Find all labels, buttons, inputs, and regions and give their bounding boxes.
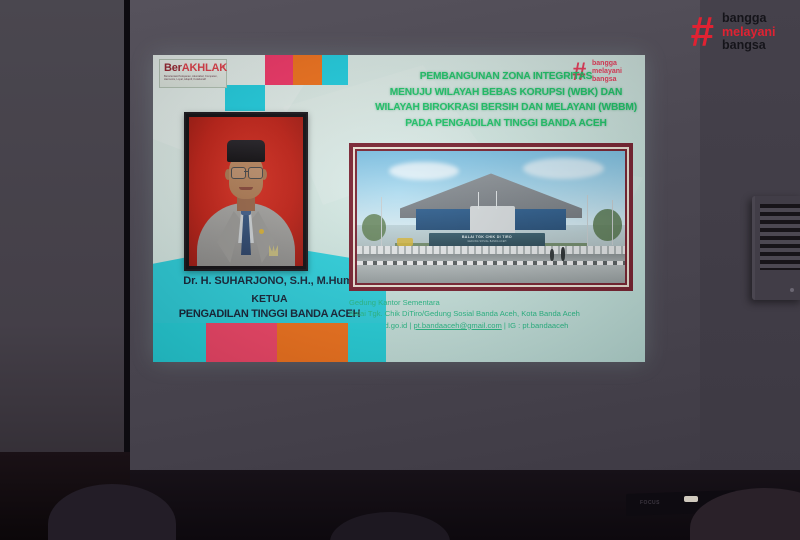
portrait-glasses-left: [231, 167, 246, 179]
photo-road: [357, 254, 625, 283]
slide-accent-bar-cyan: [225, 85, 265, 111]
portrait-mouth: [239, 187, 253, 190]
photo-fence: [357, 246, 625, 254]
slide-top-bar-pink: [265, 55, 293, 85]
slide-top-bar-cyan: [322, 55, 348, 85]
berakhlak-logo: BerAKHLAK Berorientasi Pelayanan, Akunta…: [159, 59, 227, 88]
slide-headline: PEMBANGUNAN ZONA INTEGRITAS MENUJU WILAY…: [375, 69, 637, 131]
building-photo-inner-frame: BALAI TGK CHIK DI TIRO GEDUNG SOSIAL BAN…: [353, 147, 629, 287]
slide-bottom-bar-pink: [206, 323, 277, 362]
slide-bottom-bar-cyan: [153, 323, 206, 362]
photo-building-entrance: [470, 206, 516, 232]
email-link[interactable]: pt.bandaaceh@gmail.com: [413, 321, 501, 330]
photo-cloud: [523, 158, 603, 179]
address-block: Gedung Kantor Sementara Balai Tgk. Chik …: [349, 297, 639, 331]
photo-street-lamp: [587, 195, 588, 248]
photo-pedestrian: [550, 249, 554, 261]
photo-pedestrian: [561, 247, 565, 260]
address-line-2: Balai Tgk. Chik DiTiro/Gedung Sosial Ban…: [349, 308, 639, 319]
room-logo-line1: bangga: [722, 12, 776, 26]
photo-cloud: [389, 162, 459, 180]
slide-top-bar-orange: [293, 55, 322, 85]
address-contact-line: www.pt-nad.go.id | pt.bandaaceh@gmail.co…: [349, 320, 639, 331]
photo-sign-subtext: GEDUNG SOSIAL BANDA ACEH: [429, 241, 544, 243]
portrait-lapel-pin-icon: [259, 229, 264, 234]
presentation-slide[interactable]: BerAKHLAK Berorientasi Pelayanan, Akunta…: [153, 55, 645, 362]
conference-room-scene: BerAKHLAK Berorientasi Pelayanan, Akunta…: [0, 0, 800, 540]
portrait-peci-cap: [227, 140, 265, 162]
room-logo-line2: melayani: [722, 26, 776, 40]
slide-logo-line1: bangga: [592, 60, 622, 68]
photo-curb: [357, 261, 625, 265]
berakhlak-subtitle: Berorientasi Pelayanan, Akuntabel, Kompe…: [164, 75, 220, 82]
photo-flagpole: [478, 192, 479, 209]
headline-line-3: WILAYAH BIROKRASI BERSIH DAN MELAYANI (W…: [375, 100, 637, 116]
photo-flagpole: [496, 191, 497, 209]
headline-line-1: PEMBANGUNAN ZONA INTEGRITAS: [375, 69, 637, 85]
berakhlak-suffix: AKHLAK: [182, 62, 227, 74]
berakhlak-prefix: Ber: [164, 62, 182, 74]
photo-tree: [362, 214, 386, 240]
address-line-1: Gedung Kantor Sementara: [349, 297, 639, 308]
headline-line-4: PADA PENGADILAN TINGGI BANDA ACEH: [375, 116, 637, 132]
photo-street-lamp: [612, 200, 613, 245]
contact-separator-2: | IG :: [502, 321, 523, 330]
slide-bottom-bar-orange: [277, 323, 348, 362]
building-photo-frame: BALAI TGK CHIK DI TIRO GEDUNG SOSIAL BAN…: [349, 143, 633, 291]
portrait-photo: [189, 117, 303, 266]
photo-tree: [593, 209, 622, 241]
portrait-glasses-right: [248, 167, 263, 179]
portrait-glasses-bridge: [244, 171, 248, 172]
photo-vehicle: [397, 238, 413, 246]
instagram-handle: pt.bandaaceh: [522, 321, 568, 330]
court-building-photo: BALAI TGK CHIK DI TIRO GEDUNG SOSIAL BAN…: [357, 151, 625, 283]
projector-label: FOCUS: [640, 500, 660, 506]
headline-line-2: MENUJU WILAYAH BEBAS KORUPSI (WBK) DAN: [375, 85, 637, 101]
air-conditioner-vents-icon: [760, 204, 800, 270]
photo-street-lamp: [381, 197, 382, 247]
photo-sign-text: BALAI TGK CHIK DI TIRO: [429, 235, 544, 239]
room-logo-line3: bangsa: [722, 39, 776, 53]
hash-icon: #: [690, 12, 720, 52]
portrait-frame: [184, 112, 308, 271]
projector-lens-icon: [684, 496, 698, 502]
slide-bottom-bar-cyan: [348, 323, 386, 362]
wall-bangga-melayani-bangsa-logo: # bangga melayani bangsa: [690, 8, 794, 56]
air-conditioner-indicator-icon: [790, 288, 794, 292]
